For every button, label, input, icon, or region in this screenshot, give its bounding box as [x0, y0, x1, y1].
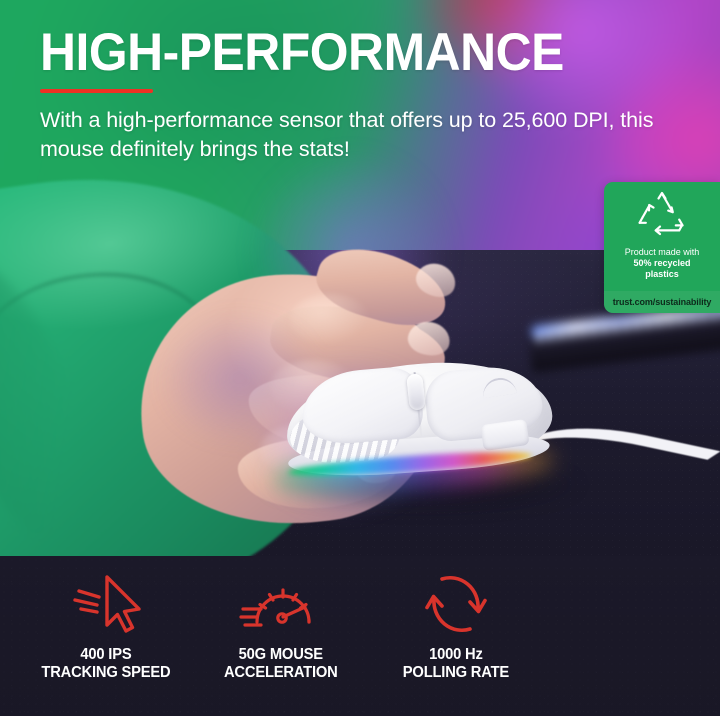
- feature-label: 50G MOUSE ACCELERATION: [224, 646, 338, 682]
- feature-caption: ACCELERATION: [224, 664, 338, 682]
- feature-row: 400 IPS TRACKING SPEED: [0, 556, 720, 716]
- subtitle: With a high-performance sensor that offe…: [40, 106, 680, 163]
- badge-text: Product made with 50% recycled plastics: [620, 247, 705, 280]
- badge-line-3: plastics: [625, 269, 700, 280]
- feature-mouse-acceleration: 50G MOUSE ACCELERATION: [193, 556, 368, 716]
- feature-value: 1000 Hz: [429, 646, 483, 663]
- badge-line-1: Product made with: [625, 247, 700, 258]
- feature-polling-rate: 1000 Hz POLLING RATE: [368, 556, 543, 716]
- gaming-mouse: [286, 360, 586, 510]
- feature-caption: TRACKING SPEED: [41, 664, 170, 682]
- feature-label: 400 IPS TRACKING SPEED: [41, 646, 170, 682]
- feature-value: 400 IPS: [80, 646, 131, 663]
- sustainability-badge[interactable]: Product made with 50% recycled plastics …: [604, 182, 720, 313]
- badge-url[interactable]: trust.com/sustainability: [604, 291, 720, 313]
- badge-body: Product made with 50% recycled plastics: [604, 182, 720, 291]
- speedometer-icon: [239, 568, 323, 640]
- product-banner: HIGH-PERFORMANCE With a high-performance…: [0, 0, 720, 716]
- feature-strip: 400 IPS TRACKING SPEED: [0, 556, 720, 716]
- mouse-left-button: [299, 365, 425, 447]
- accent-rule: [40, 89, 153, 93]
- cursor-speed-icon: [69, 568, 143, 640]
- feature-tracking-speed: 400 IPS TRACKING SPEED: [18, 556, 193, 716]
- badge-line-2: 50% recycled: [625, 258, 700, 269]
- feature-caption: POLLING RATE: [402, 664, 508, 682]
- headline: HIGH-PERFORMANCE: [40, 26, 564, 79]
- recycle-icon: [636, 191, 688, 242]
- refresh-loop-icon: [420, 568, 492, 640]
- feature-value: 50G MOUSE: [238, 646, 322, 663]
- feature-label: 1000 Hz POLLING RATE: [402, 646, 508, 682]
